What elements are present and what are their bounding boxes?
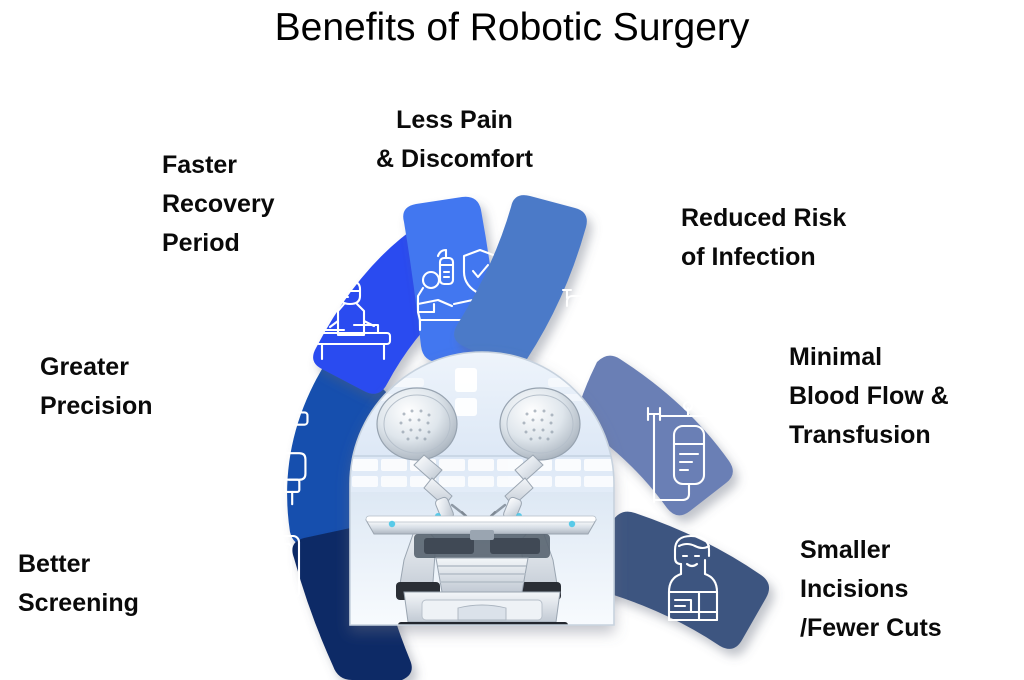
screening-monitor-icon (211, 536, 299, 614)
petal-reduced-infection[interactable] (454, 195, 651, 374)
label-less-pain: Less Pain & Discomfort (376, 101, 533, 179)
label-minimal-blood-flow: Minimal Blood Flow & Transfusion (789, 338, 949, 455)
label-faster-recovery: Faster Recovery Period (162, 146, 275, 263)
infographic-canvas: Benefits of Robotic Surgery (0, 0, 1024, 680)
label-smaller-incisions: Smaller Incisions /Fewer Cuts (800, 531, 942, 648)
label-better-screening: Better Screening (18, 545, 139, 623)
label-reduced-infection: Reduced Risk of Infection (681, 199, 846, 277)
center-photo (348, 350, 618, 633)
label-greater-precision: Greater Precision (40, 348, 153, 426)
petal-smaller-incisions[interactable] (590, 512, 769, 649)
